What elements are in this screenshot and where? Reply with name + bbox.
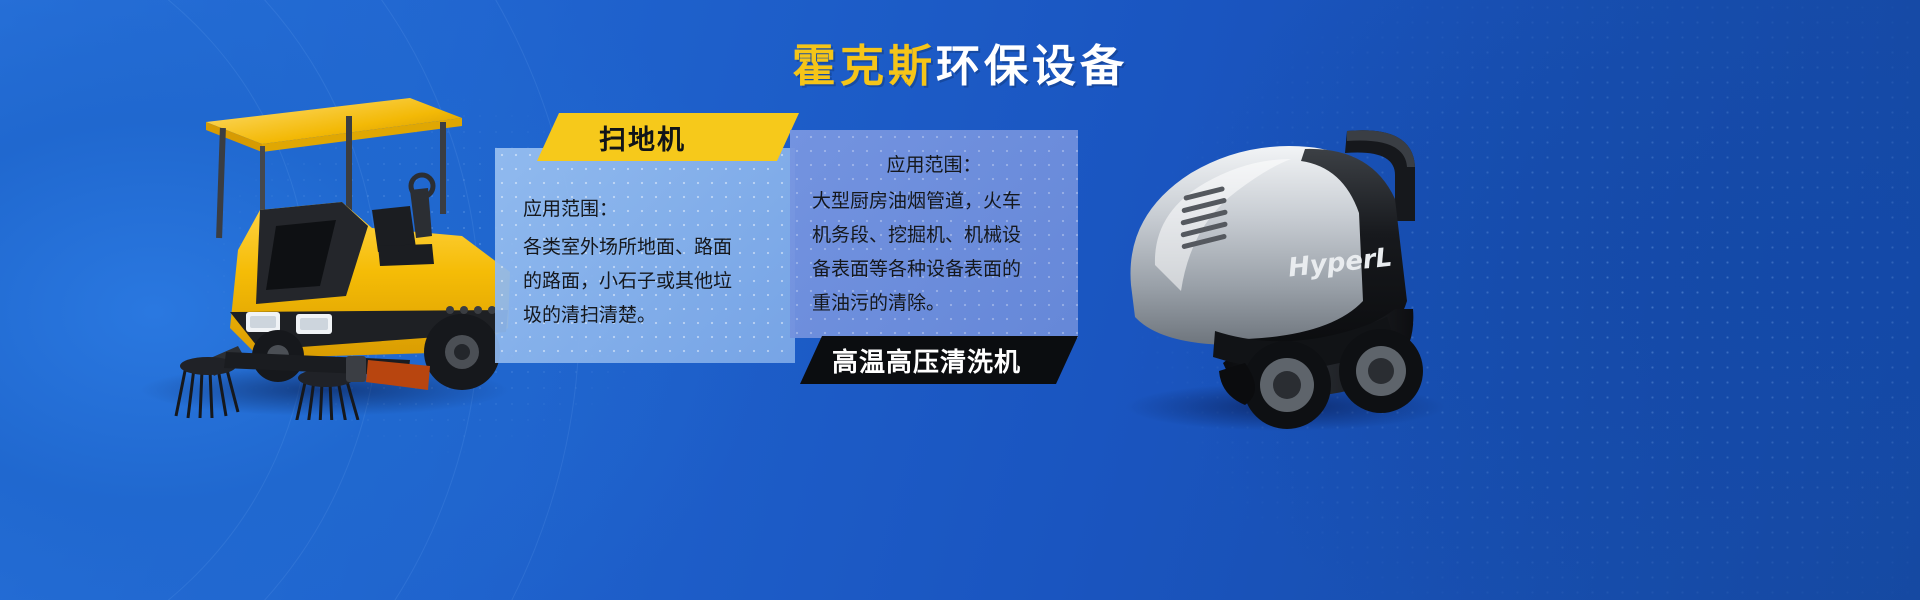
- banner-title-rest: 环保设备: [936, 41, 1128, 92]
- washer-scope-line: 重油污的清除。: [812, 286, 1056, 320]
- sweeper-scope-line: 圾的清扫清楚。: [523, 298, 769, 332]
- washer-scope-line: 机务段、挖掘机、机械设: [812, 218, 1056, 252]
- banner-title-highlight: 霍克斯: [792, 41, 936, 92]
- sweeper-product-image: [110, 60, 530, 420]
- washer-info-text: 应用范围： 大型厨房油烟管道，火车 机务段、挖掘机、机械设 备表面等各种设备表面…: [790, 130, 1078, 320]
- sweeper-name-tag[interactable]: 扫地机: [537, 113, 799, 161]
- sweeper-scope-line: 各类室外场所地面、路面: [523, 230, 769, 264]
- sweeper-scope-line: 的路面，小石子或其他垃: [523, 264, 769, 298]
- washer-info-panel: 应用范围： 大型厨房油烟管道，火车 机务段、挖掘机、机械设 备表面等各种设备表面…: [790, 130, 1078, 338]
- sweeper-illustration: [110, 60, 530, 420]
- washer-scope-line: 备表面等各种设备表面的: [812, 252, 1056, 286]
- sweeper-info-panel: 应用范围： 各类室外场所地面、路面 的路面，小石子或其他垃 圾的清扫清楚。: [495, 148, 795, 363]
- washer-name-label: 高温高压清洗机: [800, 342, 1021, 379]
- washer-illustration: HyperL: [1095, 95, 1465, 435]
- washer-product-image: HyperL: [1095, 95, 1465, 435]
- washer-scope-line: 大型厨房油烟管道，火车: [812, 184, 1056, 218]
- sweeper-info-text: 应用范围： 各类室外场所地面、路面 的路面，小石子或其他垃 圾的清扫清楚。: [495, 148, 795, 332]
- washer-scope-label: 应用范围：: [812, 148, 1056, 182]
- sweeper-name-label: 扫地机: [537, 118, 686, 157]
- sweeper-scope-label: 应用范围：: [523, 192, 769, 226]
- promo-banner: 霍克斯环保设备: [0, 0, 1920, 600]
- washer-name-tag[interactable]: 高温高压清洗机: [800, 336, 1078, 384]
